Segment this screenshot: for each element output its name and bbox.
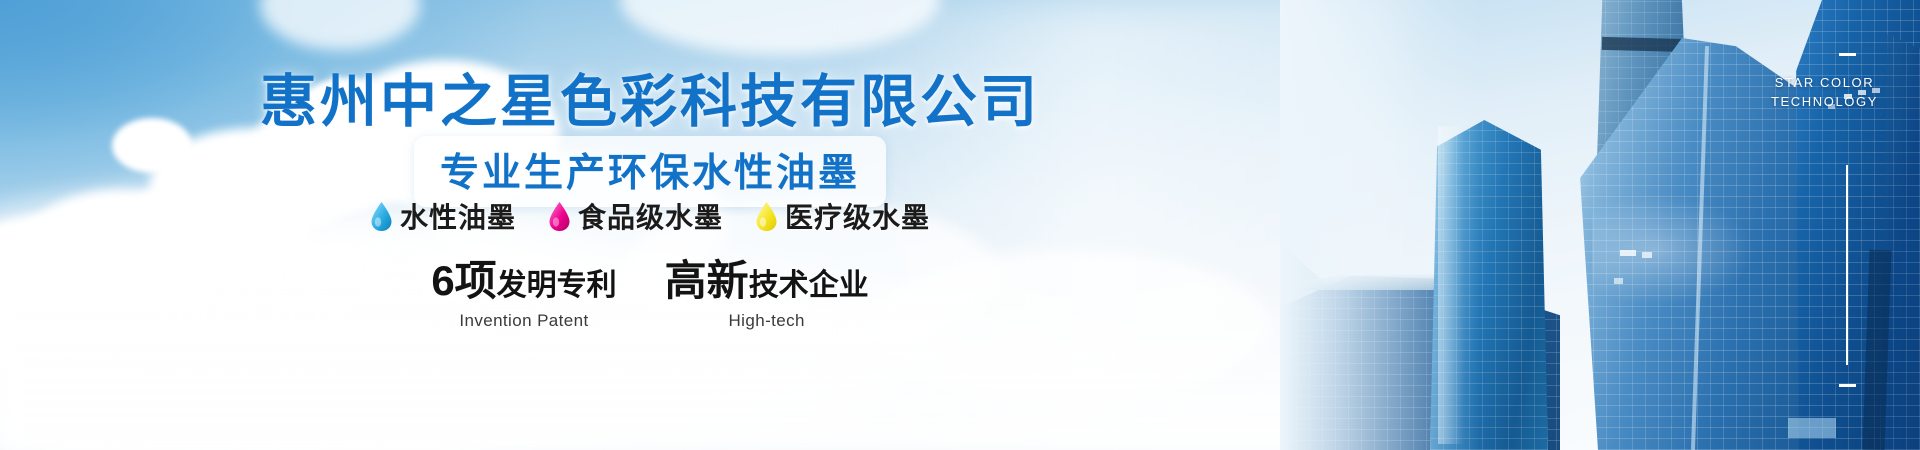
window-highlight	[1642, 252, 1652, 258]
credential-badges: 6项发明专利 Invention Patent 高新技术企业 High-tech	[0, 258, 1300, 331]
water-drop-icon	[755, 201, 778, 232]
vertical-rule	[1846, 165, 1848, 365]
badge-emphasis: 6项	[431, 257, 496, 304]
building-brand-tag: STAR COLOR TECHNOLOGY	[1771, 73, 1878, 111]
badge-english-text: Invention Patent	[431, 311, 616, 331]
water-drop-icon	[548, 201, 571, 232]
feature-list: 水性油墨 食品级水墨	[0, 196, 1300, 236]
window-highlight	[1788, 418, 1836, 438]
badge-detail: 发明专利	[497, 269, 617, 302]
badge-emphasis: 高新	[665, 257, 749, 304]
building-brand-tag-line2: TECHNOLOGY	[1771, 92, 1878, 111]
banner-content: 惠州中之星色彩科技有限公司 专业生产环保水性油墨 水性油墨	[0, 0, 1300, 450]
city-edge-fade	[1280, 0, 1480, 450]
company-title: 惠州中之星色彩科技有限公司	[0, 56, 1300, 138]
feature-item-water-based-ink: 水性油墨	[370, 196, 516, 236]
skyscraper-photo: STAR COLOR TECHNOLOGY	[1280, 0, 1920, 450]
window-highlight	[1620, 250, 1636, 256]
tick-mark-top	[1839, 53, 1856, 56]
feature-item-medical-grade-ink: 医疗级水墨	[755, 196, 930, 236]
tick-mark-bottom	[1839, 384, 1856, 387]
feature-label: 医疗级水墨	[785, 196, 930, 236]
company-hero-banner: Star Color	[0, 0, 1920, 450]
badge-chinese-text: 高新技术企业	[665, 258, 869, 309]
badge-invention-patent: 6项发明专利 Invention Patent	[431, 258, 616, 331]
water-drop-icon	[370, 201, 393, 232]
badge-high-tech-enterprise: 高新技术企业 High-tech	[665, 258, 869, 331]
window-highlight	[1614, 278, 1623, 284]
badge-english-text: High-tech	[665, 311, 869, 331]
building-brand-tag-line1: STAR COLOR	[1771, 73, 1878, 92]
badge-chinese-text: 6项发明专利	[431, 258, 616, 309]
feature-item-food-grade-ink: 食品级水墨	[548, 196, 723, 236]
badge-detail: 技术企业	[749, 269, 869, 302]
feature-label: 食品级水墨	[578, 196, 723, 236]
feature-label: 水性油墨	[400, 196, 516, 236]
